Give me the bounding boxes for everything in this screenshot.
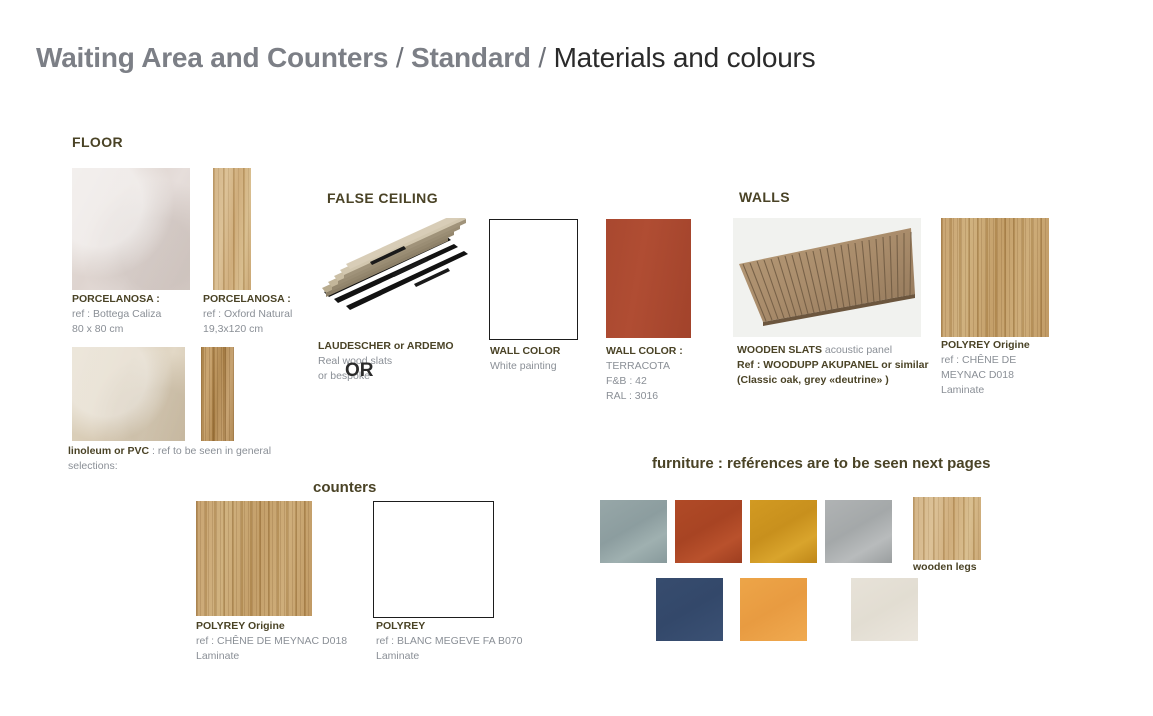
linoleum-wood-plank-texture [201,347,234,441]
title-separator-1: / [388,42,411,73]
caption-line-title: WALL COLOR [490,344,560,359]
section-heading-furniture: furniture : reférences are to be seen ne… [652,455,990,472]
caption-line-brand: PORCELANOSA : [203,292,292,307]
swatch-wooden-slats-acoustic-panel [733,218,921,337]
swatch-polyrey-origine-counter [196,501,312,616]
swatch-polyrey-origine-wall [941,218,1049,337]
furniture-swatch-orange [740,578,807,641]
caption-rest-acoustic: acoustic panel [822,344,892,356]
wall-color-terracota-fill [606,219,691,338]
furniture-swatch-grey-green [600,500,667,563]
caption-wooden-legs: wooden legs [913,560,977,575]
title-separator-2: / [531,42,554,73]
caption-line-ref: ref : Oxford Natural [203,307,292,322]
caption-line-finish: Laminate [941,383,1030,398]
caption-line-brand: PORCELANOSA : [72,292,161,307]
polyrey-origine-wall-texture [941,218,1049,337]
caption-line-name: TERRACOTA [606,359,683,374]
or-label: OR [345,360,374,382]
section-heading-counters: counters [313,479,376,496]
caption-line-ref: ref : CHÊNE DE [941,353,1030,368]
swatch-polyrey-blanc-megeve [373,501,494,618]
caption-wall-color-terracota: WALL COLOR : TERRACOTA F&B : 42 RAL : 30… [606,344,683,404]
caption-bold-wooden-slats: WOODEN SLATS [737,344,822,356]
caption-line-brand: POLYREY Origine [196,619,347,634]
acoustic-panel-illustration [733,218,921,337]
caption-rest-linoleum: : ref to be seen in general [149,445,271,457]
caption-linoleum-or-pvc: linoleum or PVC : ref to be seen in gene… [68,444,271,474]
wooden-legs-label: wooden legs [913,560,977,575]
caption-polyrey-origine-counter: POLYREY Origine ref : CHÊNE DE MEYNAC D0… [196,619,347,664]
caption-polyrey-origine-wall: POLYREY Origine ref : CHÊNE DE MEYNAC D0… [941,338,1030,398]
caption-line-ref: ref : BLANC MEGEVE FA B070 [376,634,522,649]
wooden-legs-swatch [913,497,981,560]
caption-line-desc: White painting [490,359,560,374]
section-heading-floor: FLOOR [72,134,123,150]
title-segment-variant: Standard [411,42,531,73]
caption-wooden-slats: WOODEN SLATS acoustic panel Ref : WOODUP… [737,343,929,388]
title-segment-topic: Materials and colours [554,42,816,73]
slat-illustration-svg [318,218,478,318]
materials-and-colours-board: Waiting Area and Counters / Standard / M… [0,0,1153,716]
false-ceiling-slat-illustration [318,218,478,318]
wooden-legs-texture [913,497,981,560]
caption-line-brand: POLYREY Origine [941,338,1030,353]
caption-line-title: WALL COLOR : [606,344,683,359]
caption-line-ref: ref : Bottega Caliza [72,307,161,322]
caption-line-title: WOODEN SLATS acoustic panel [737,343,929,358]
porcelanosa-oxford-natural-texture [213,168,251,290]
furniture-swatch-navy [656,578,723,641]
furniture-swatch-rust [675,500,742,563]
swatch-linoleum-or-pvc [72,347,185,441]
section-heading-false-ceiling: FALSE CEILING [327,190,438,206]
caption-line-ral: RAL : 3016 [606,389,683,404]
polyrey-blanc-megeve-fill [374,502,493,617]
caption-line-main: linoleum or PVC : ref to be seen in gene… [68,444,271,459]
porcelanosa-bottega-caliza-texture [72,168,190,290]
caption-line-finish: Laminate [196,649,347,664]
wall-color-white-fill [490,220,577,339]
caption-line-selections: selections: [68,459,271,474]
furniture-swatch-ochre [750,500,817,563]
caption-line-desc: Real wood slats [318,354,454,369]
swatch-wall-color-terracota [606,219,691,338]
caption-line-ref-cont: MEYNAC D018 [941,368,1030,383]
furniture-swatch-silver [825,500,892,563]
polyrey-origine-counter-texture [196,501,312,616]
furniture-swatch-cream [851,578,918,641]
caption-line-brand: LAUDESCHER or ARDEMO [318,339,454,354]
caption-bold-linoleum: linoleum or PVC [68,445,149,457]
caption-porcelanosa-bottega-caliza: PORCELANOSA : ref : Bottega Caliza 80 x … [72,292,161,337]
caption-polyrey-blanc-megeve: POLYREY ref : BLANC MEGEVE FA B070 Lamin… [376,619,522,664]
caption-line-ref: Ref : WOODUPP AKUPANEL or similar [737,358,929,373]
caption-line-ref: ref : CHÊNE DE MEYNAC D018 [196,634,347,649]
section-heading-walls: WALLS [739,189,790,205]
swatch-porcelanosa-oxford-natural [213,168,251,290]
caption-porcelanosa-oxford-natural: PORCELANOSA : ref : Oxford Natural 19,3x… [203,292,292,337]
caption-line-fb: F&B : 42 [606,374,683,389]
caption-line-bespoke: or bespoke [318,369,454,384]
caption-line-variant: (Classic oak, grey «deutrine» ) [737,373,929,388]
caption-line-size: 80 x 80 cm [72,322,161,337]
swatch-porcelanosa-bottega-caliza [72,168,190,290]
caption-line-brand: POLYREY [376,619,522,634]
caption-line-finish: Laminate [376,649,522,664]
title-segment-project: Waiting Area and Counters [36,42,388,73]
swatch-linoleum-wood-plank [201,347,234,441]
linoleum-texture [72,347,185,441]
caption-line-size: 19,3x120 cm [203,322,292,337]
caption-wall-color-white: WALL COLOR White painting [490,344,560,374]
swatch-wall-color-white [489,219,578,340]
page-title: Waiting Area and Counters / Standard / M… [36,42,816,74]
caption-false-ceiling: LAUDESCHER or ARDEMO Real wood slats or … [318,339,454,384]
